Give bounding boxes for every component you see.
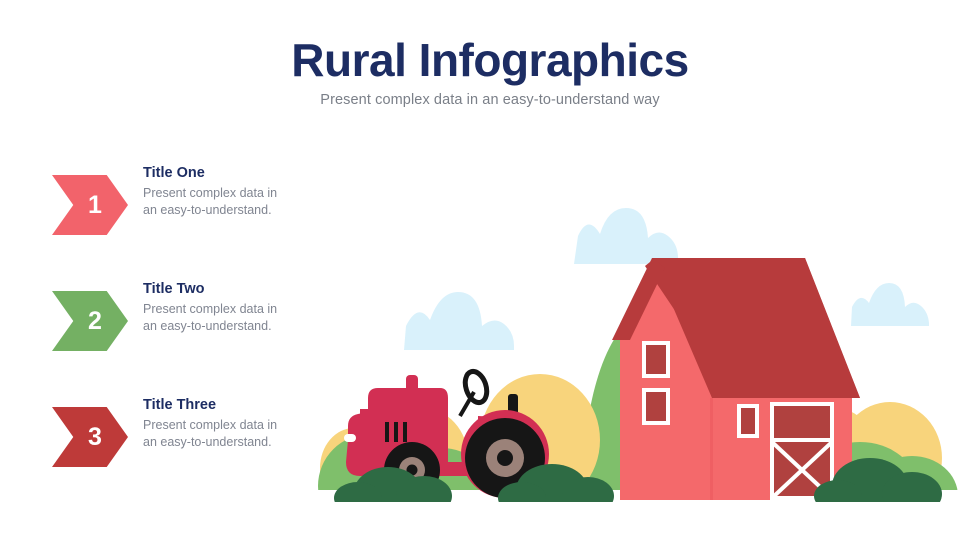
- item-body: Present complex data in an easy-to-under…: [143, 301, 278, 335]
- item-body: Present complex data in an easy-to-under…: [143, 185, 278, 219]
- item-text-block: Title Three Present complex data in an e…: [143, 397, 278, 451]
- slide: Rural Infographics Present complex data …: [0, 0, 980, 551]
- item-title: Title Two: [143, 281, 278, 297]
- rural-farm-illustration: [300, 190, 960, 510]
- slide-header: Rural Infographics Present complex data …: [0, 36, 980, 108]
- chevron-number-label: 3: [88, 425, 102, 450]
- page-title: Rural Infographics: [0, 36, 980, 84]
- cloud-left-icon: [404, 292, 514, 350]
- cloud-center-icon: [574, 208, 678, 264]
- chevron-badge-two[interactable]: 2: [52, 291, 128, 351]
- chevron-badge-three[interactable]: 3: [52, 407, 128, 467]
- page-subtitle: Present complex data in an easy-to-under…: [0, 92, 980, 108]
- item-text-block: Title One Present complex data in an eas…: [143, 165, 278, 219]
- item-text-block: Title Two Present complex data in an eas…: [143, 281, 278, 335]
- cloud-right-icon: [851, 283, 929, 326]
- chevron-number-label: 1: [88, 193, 102, 218]
- item-title: Title One: [143, 165, 278, 181]
- barn-icon: [612, 258, 860, 500]
- item-title: Title Three: [143, 397, 278, 413]
- chevron-badge-one[interactable]: 1: [52, 175, 128, 235]
- item-body: Present complex data in an easy-to-under…: [143, 417, 278, 451]
- chevron-number-label: 2: [88, 309, 102, 334]
